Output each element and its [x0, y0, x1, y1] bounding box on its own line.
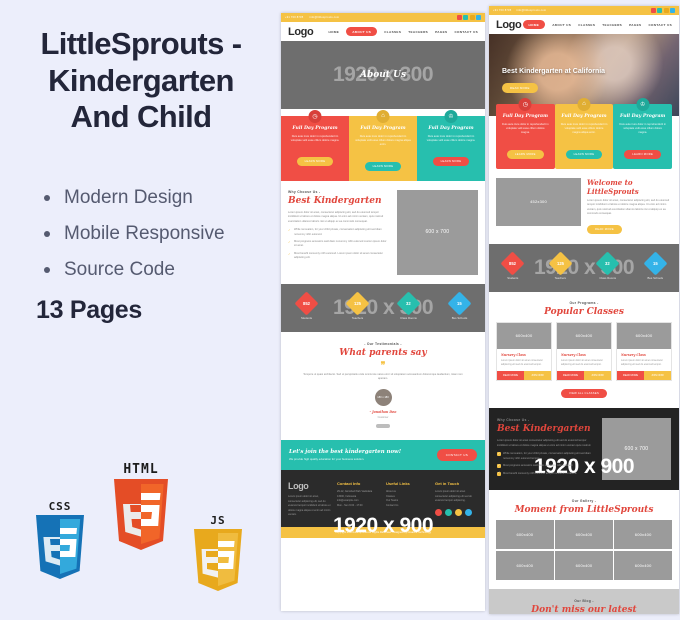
- clock-icon: ◷: [309, 110, 322, 123]
- section-heading: Moment from LittleSprouts: [496, 505, 672, 515]
- stat-label: Bus Schools: [451, 316, 468, 320]
- feature-card[interactable]: ◷ Full Day Program Duis aute irure dolor…: [496, 104, 555, 169]
- stat-value: 32: [406, 301, 411, 306]
- stat-value: 15: [653, 261, 658, 266]
- page-title: LittleSprouts - Kindergarten And Child: [18, 26, 264, 136]
- js-label: JS: [190, 514, 246, 527]
- stat-item: 15 Bus Schools: [647, 255, 664, 280]
- nav-items[interactable]: HOME ABOUT US CLASSES TEACHERS PAGES CON…: [329, 27, 478, 36]
- cta-text: We provide high quality education for yo…: [289, 457, 401, 461]
- class-card-readmore[interactable]: READ MORE: [497, 371, 524, 380]
- gallery-item[interactable]: 600x400: [496, 520, 554, 549]
- stat-value: 125: [557, 261, 564, 266]
- class-card-text: Lorem ipsum dolor sit amet consectetur a…: [621, 359, 667, 367]
- hero-content: Best Kindergarten at California READ MOR…: [502, 67, 605, 94]
- gallery-grid: 600x400 600x400 600x400 600x400 600x400 …: [496, 520, 672, 580]
- trophy-icon: ♔: [636, 98, 649, 111]
- stats-band: 1920 x 500 852 Students 125 Teachers 32 …: [489, 244, 679, 292]
- feature-card-title: Full Day Program: [423, 126, 479, 131]
- stat-label: Students: [298, 316, 315, 320]
- section-body: Lorem ipsum dolor sit amet, consectetur …: [587, 199, 672, 217]
- feature-card-title: Full Day Program: [355, 126, 411, 131]
- nav-items[interactable]: HOME ABOUT US CLASSES TEACHERS PAGES CON…: [523, 20, 672, 29]
- footer-column-title: Get in Touch: [435, 481, 478, 486]
- benefit-list: While renovation, for your child private…: [288, 228, 390, 260]
- cta-button[interactable]: CONTACT US: [437, 449, 477, 461]
- section-heading: Best Kindergarten: [288, 196, 390, 206]
- class-card-joinnow[interactable]: JOIN NOW: [644, 371, 671, 380]
- list-item: Source Code: [44, 260, 264, 279]
- clock-icon: ◷: [519, 98, 532, 111]
- feature-cards: ◷ Full Day Program Duis aute irure dolor…: [496, 104, 672, 169]
- footer-contact-column: Contact Info 29-12, Jamshed Park Vadodar…: [337, 481, 380, 518]
- nav-item-home[interactable]: HOME: [329, 30, 340, 34]
- class-card-joinnow[interactable]: JOIN NOW: [584, 371, 611, 380]
- stat-item: 852 Students: [504, 255, 521, 280]
- footer-column-title: Contact Info: [337, 481, 380, 486]
- feature-card-text: Duis aute irure dolor in reprehenderit i…: [502, 123, 549, 136]
- feature-card-text: Duis aute irure dolor in reprehenderit i…: [287, 135, 343, 143]
- nav-item-contact[interactable]: CONTACT US: [648, 23, 672, 27]
- feature-card[interactable]: ⌂ Full Day Program Duis aute irure dolor…: [349, 116, 417, 181]
- list-item: While renovation, for your child private…: [497, 452, 595, 461]
- navbar[interactable]: Logo HOME ABOUT US CLASSES TEACHERS PAGE…: [489, 15, 679, 34]
- trophy-icon: ♔: [445, 110, 458, 123]
- why-choose-section: Why Choose Us - Best Kindergarten Lorem …: [281, 181, 485, 284]
- carousel-dots[interactable]: [376, 424, 390, 428]
- popular-classes-section: Our Programs - Popular Classes 600x400 N…: [489, 292, 679, 409]
- image-placeholder: 600x400: [557, 323, 611, 349]
- about-hero-banner: 1920 x 300 About Us: [281, 41, 485, 109]
- footer-logo[interactable]: Logo: [288, 481, 331, 491]
- site-preview-home-page[interactable]: +91 700 8795 info@littlesprouts.com Logo…: [489, 6, 679, 614]
- feature-list: Modern Design Mobile Responsive Source C…: [44, 188, 264, 279]
- cta-band: Let's join the best kindergarten now! We…: [281, 440, 485, 471]
- feature-card-button[interactable]: LEARN MORE: [507, 150, 544, 159]
- section-heading: Welcome to LittleSprouts: [587, 178, 672, 196]
- image-placeholder: 600 x 700: [397, 190, 478, 275]
- topbar-email: info@littlesprouts.com: [516, 9, 546, 12]
- cta-heading: Let's join the best kindergarten now!: [289, 449, 401, 455]
- image-placeholder: 600x400: [497, 323, 551, 349]
- class-cards: 600x400 Nursery Class Lorem ipsum dolor …: [496, 322, 672, 382]
- section-eyebrow: Why Choose Us -: [497, 418, 595, 422]
- css3-label: CSS: [32, 500, 88, 513]
- list-item: Mobile Responsive: [44, 224, 264, 243]
- class-card-joinnow[interactable]: JOIN NOW: [524, 371, 551, 380]
- gallery-item[interactable]: 600x400: [614, 520, 672, 549]
- feature-card-button[interactable]: LEARN MORE: [297, 157, 334, 166]
- list-item: Mon - Sun 9:00 - 17:00: [337, 504, 380, 509]
- feature-card-title: Full Day Program: [561, 114, 608, 119]
- gallery-item[interactable]: 600x400: [496, 551, 554, 580]
- nav-item-pages[interactable]: PAGES: [629, 23, 641, 27]
- testimonial-role: Customer: [291, 416, 475, 419]
- hero-button[interactable]: READ MORE: [502, 83, 538, 93]
- footer-link[interactable]: Contact Us: [386, 504, 429, 509]
- section-heading: What parents say: [291, 348, 475, 358]
- nav-item-about[interactable]: ABOUT US: [346, 27, 377, 36]
- class-card[interactable]: 600x400 Nursery Class Lorem ipsum dolor …: [496, 322, 552, 382]
- twitter-icon[interactable]: [657, 8, 662, 13]
- topbar-email: info@littlesprouts.com: [309, 16, 339, 19]
- linkedin-icon[interactable]: [670, 8, 675, 13]
- footer-watermark: 1920 x 900: [281, 514, 485, 538]
- topbar-social-icons[interactable]: [649, 8, 675, 13]
- image-placeholder: 452x300: [496, 178, 581, 226]
- css3-logo: CSS: [32, 500, 88, 583]
- topbar-social-icons[interactable]: [455, 15, 481, 20]
- nav-item-teachers[interactable]: TEACHERS: [602, 23, 622, 27]
- linkedin-icon[interactable]: [476, 15, 481, 20]
- site-logo[interactable]: Logo: [496, 19, 521, 31]
- stat-item: 125 Teachers: [349, 295, 366, 320]
- feature-card-text: Duis aute irure dolor in reprehenderit i…: [561, 123, 608, 136]
- instagram-icon[interactable]: [470, 15, 475, 20]
- stat-item: 852 Students: [298, 295, 315, 320]
- footer-touch-text: Lorem ipsum dolor sit amet consectetur a…: [435, 490, 478, 504]
- feature-card-button[interactable]: LEARN MORE: [433, 157, 470, 166]
- site-preview-about-page[interactable]: +91 700 8795 info@littlesprouts.com Logo…: [281, 13, 485, 611]
- topbar: +91 700 8795 info@littlesprouts.com: [489, 6, 679, 15]
- promo-banner: LittleSprouts - Kindergarten And Child M…: [0, 0, 680, 620]
- section-eyebrow: Our Blog -: [497, 599, 671, 603]
- class-card-title: Nursery Class: [561, 353, 607, 357]
- section-eyebrow: Why Choose Us -: [288, 190, 390, 194]
- feature-card-button[interactable]: LEARN MORE: [624, 150, 661, 159]
- nav-item-contact[interactable]: CONTACT US: [454, 30, 478, 34]
- site-logo[interactable]: Logo: [288, 26, 313, 38]
- gallery-item[interactable]: 600x400: [614, 551, 672, 580]
- feature-card-title: Full Day Program: [287, 126, 343, 131]
- footer-about-column: Logo Lorem ipsum dolor sit amet, consect…: [288, 481, 331, 518]
- feature-card-text: Duis aute irure dolor in reprehenderit i…: [423, 135, 479, 143]
- site-footer: 1920 x 900 Logo Lorem ipsum dolor sit am…: [281, 470, 485, 527]
- class-card-text: Lorem ipsum dolor sit amet consectetur a…: [501, 359, 547, 367]
- feature-card-text: Duis aute irure dolor in reprehenderit i…: [355, 135, 411, 148]
- hero-headline: Best Kindergarten at California: [502, 67, 605, 76]
- feature-card[interactable]: ♔ Full Day Program Duis aute irure dolor…: [417, 116, 485, 181]
- stat-label: Teachers: [349, 316, 366, 320]
- stat-label: Class Rooms: [599, 276, 616, 280]
- feature-card-title: Full Day Program: [502, 114, 549, 119]
- instagram-icon[interactable]: [664, 8, 669, 13]
- stat-label: Class Rooms: [400, 316, 417, 320]
- benefit-list: While renovation, for your child private…: [497, 452, 595, 476]
- stat-item: 125 Teachers: [552, 255, 569, 280]
- list-item: Most programs ancestors said diam nonumm…: [288, 240, 390, 249]
- html5-shield-icon: [110, 479, 172, 555]
- stat-value: 125: [354, 301, 361, 306]
- stat-value: 32: [605, 261, 610, 266]
- class-card-text: Lorem ipsum dolor sit amet consectetur a…: [561, 359, 607, 367]
- stat-value: 15: [457, 301, 462, 306]
- list-item: While renovation, for your child private…: [288, 228, 390, 237]
- class-card[interactable]: 600x400 Nursery Class Lorem ipsum dolor …: [556, 322, 612, 382]
- hero-title: About Us: [360, 70, 406, 80]
- footer-column-title: Useful Links: [386, 481, 429, 486]
- view-all-classes-button[interactable]: VIEW ALL CLASSES: [561, 389, 607, 398]
- twitter-icon[interactable]: [463, 15, 468, 20]
- stat-label: Students: [504, 276, 521, 280]
- css3-shield-icon: [32, 515, 88, 583]
- html5-label: HTML: [110, 462, 172, 477]
- section-heading: Don't miss our latest: [497, 605, 671, 614]
- technology-logos: CSS HTML: [22, 452, 272, 612]
- nav-item-home[interactable]: HOME: [523, 20, 546, 29]
- gallery-section: Our Gallery - Moment from LittleSprouts …: [489, 490, 679, 589]
- blog-section: Our Blog - Don't miss our latest ‹ › 600…: [489, 589, 679, 614]
- feature-card-button[interactable]: LEARN MORE: [566, 150, 603, 159]
- js-logo: JS: [190, 514, 246, 595]
- stat-item: 32 Class Rooms: [400, 295, 417, 320]
- testimonial-quote: Tempore ut quasi architecto. Sed ut pers…: [291, 373, 475, 382]
- feature-cards: ◷ Full Day Program Duis aute irure dolor…: [281, 116, 485, 181]
- stats-band: 1920 x 500 852 Students 125 Teachers 32 …: [281, 284, 485, 332]
- section-body: Lorem ipsum dolor sit amet consectetur a…: [497, 439, 595, 448]
- list-item: Modern Design: [44, 188, 264, 207]
- stat-item: 32 Class Rooms: [599, 255, 616, 280]
- js-shield-icon: [190, 529, 246, 595]
- feature-card[interactable]: ◷ Full Day Program Duis aute irure dolor…: [281, 116, 349, 181]
- feature-card-text: Duis aute irure dolor in reprehenderit i…: [619, 123, 666, 136]
- feature-card[interactable]: ⌂ Full Day Program Duis aute irure dolor…: [555, 104, 614, 169]
- topbar-phone: +91 700 8795: [285, 16, 303, 19]
- class-card-readmore[interactable]: READ MORE: [557, 371, 584, 380]
- stat-value: 852: [303, 301, 310, 306]
- facebook-icon[interactable]: [651, 8, 656, 13]
- footer-links-column: Useful Links About us Classes Our Teams …: [386, 481, 429, 518]
- section-eyebrow: Our Gallery -: [496, 499, 672, 503]
- feature-card-button[interactable]: LEARN MORE: [365, 162, 402, 171]
- stat-label: Teachers: [552, 276, 569, 280]
- feature-card-title: Full Day Program: [619, 114, 666, 119]
- section-heading: Best Kindergarten: [497, 424, 595, 434]
- welcome-section: 452x300 Welcome to LittleSprouts Lorem i…: [489, 169, 679, 244]
- nav-item-about[interactable]: ABOUT US: [552, 23, 571, 27]
- stat-label: Bus Schools: [647, 276, 664, 280]
- nav-item-classes[interactable]: CLASSES: [578, 23, 595, 27]
- home-icon: ⌂: [377, 110, 390, 123]
- list-item: 29-12, Jamshed Park Vadodara 13000, Indo…: [337, 490, 380, 499]
- class-card-title: Nursery Class: [621, 353, 667, 357]
- dark-feature-section: 1920 x 900 Why Choose Us - Best Kinderga…: [489, 408, 679, 490]
- list-item: Most programs ancestors said diam nonumm…: [497, 464, 595, 468]
- list-item: Most benefit consumty nibh euismod. Lore…: [288, 252, 390, 261]
- class-card-readmore[interactable]: READ MORE: [617, 371, 644, 380]
- nav-item-classes[interactable]: CLASSES: [384, 30, 401, 34]
- page-count-badge: 13 Pages: [36, 296, 264, 325]
- nav-item-teachers[interactable]: TEACHERS: [408, 30, 428, 34]
- gallery-item[interactable]: 600x400: [555, 520, 613, 549]
- topbar: +91 700 8795 info@littlesprouts.com: [281, 13, 485, 22]
- feature-card[interactable]: ♔ Full Day Program Duis aute irure dolor…: [613, 104, 672, 169]
- welcome-button[interactable]: READ MORE: [587, 225, 622, 234]
- section-eyebrow: Our Programs -: [496, 301, 672, 305]
- testimonial-author: - Jonathan Deo: [291, 410, 475, 414]
- facebook-icon[interactable]: [457, 15, 462, 20]
- avatar: 180 x 180: [375, 389, 392, 406]
- section-heading: Popular Classes: [496, 307, 672, 317]
- home-icon: ⌂: [578, 98, 591, 111]
- section-eyebrow: - Our Testimonials -: [291, 342, 475, 346]
- stat-value: 852: [509, 261, 516, 266]
- topbar-phone: +91 700 8795: [493, 9, 511, 12]
- nav-item-pages[interactable]: PAGES: [435, 30, 447, 34]
- html5-logo: HTML: [110, 462, 172, 555]
- stat-item: 15 Bus Schools: [451, 295, 468, 320]
- class-card[interactable]: 600x400 Nursery Class Lorem ipsum dolor …: [616, 322, 672, 382]
- navbar[interactable]: Logo HOME ABOUT US CLASSES TEACHERS PAGE…: [281, 22, 485, 41]
- gallery-item[interactable]: 600x400: [555, 551, 613, 580]
- list-item: Most benefit consumty nibh euismod tempo…: [497, 472, 595, 476]
- class-card-title: Nursery Class: [501, 353, 547, 357]
- section-body: Lorem ipsum dolor sit amet, consectetur …: [288, 211, 390, 225]
- quote-icon: ❞: [291, 363, 475, 368]
- testimonials-section: - Our Testimonials - What parents say ❞ …: [281, 332, 485, 440]
- image-placeholder: 600x400: [617, 323, 671, 349]
- footer-touch-column: Get in Touch Lorem ipsum dolor sit amet …: [435, 481, 478, 518]
